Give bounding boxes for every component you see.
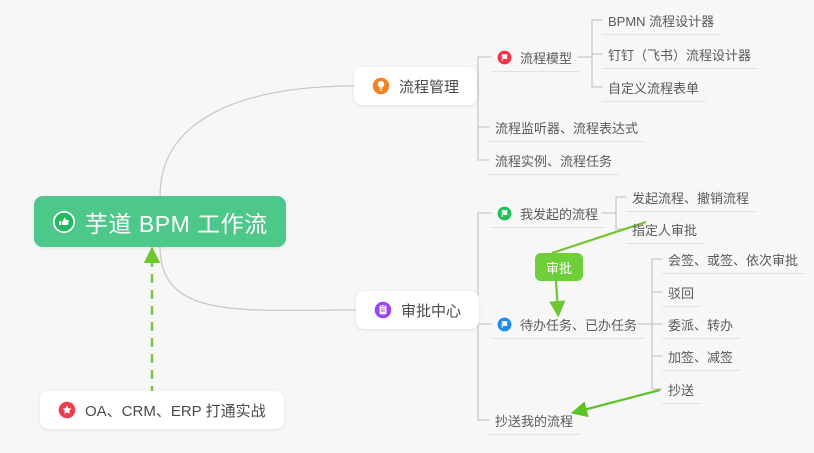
label-assignee-approval: 指定人审批 xyxy=(632,220,697,239)
node-bpmn-designer[interactable]: BPMN 流程设计器 xyxy=(602,6,721,35)
bottom-note-label: OA、CRM、ERP 打通实战 xyxy=(85,400,266,421)
approval-tag-node[interactable]: 审批 xyxy=(535,253,583,281)
label-countersign-orsign-sequential: 会签、或签、依次审批 xyxy=(668,250,798,269)
lightbulb-icon xyxy=(372,77,390,95)
label-my-initiated-process: 我发起的流程 xyxy=(520,204,598,223)
node-my-initiated-process[interactable]: 我发起的流程 xyxy=(491,199,605,228)
node-dingtalk-feishu-designer[interactable]: 钉钉（飞书）流程设计器 xyxy=(602,40,758,69)
label-dingtalk-feishu-designer: 钉钉（飞书）流程设计器 xyxy=(608,45,751,64)
label-custom-process-form: 自定义流程表单 xyxy=(608,78,699,97)
bottom-note-node[interactable]: OA、CRM、ERP 打通实战 xyxy=(40,391,284,429)
label-process-model: 流程模型 xyxy=(520,48,572,67)
label-start-cancel-process: 发起流程、撤销流程 xyxy=(632,188,749,207)
document-icon xyxy=(374,301,392,319)
root-label: 芋道 BPM 工作流 xyxy=(85,205,268,239)
flag-red-icon xyxy=(497,50,512,65)
node-custom-process-form[interactable]: 自定义流程表单 xyxy=(602,73,706,102)
label-bpmn-designer: BPMN 流程设计器 xyxy=(608,11,714,30)
connector-root-to-process-management xyxy=(160,86,354,196)
node-countersign-orsign-sequential[interactable]: 会签、或签、依次审批 xyxy=(662,245,805,274)
connector-root-to-approval-center xyxy=(160,246,356,310)
flag-green-icon xyxy=(497,206,512,221)
arrow-tag-to-todo-tasks xyxy=(556,281,558,312)
label-todo-done-tasks: 待办任务、已办任务 xyxy=(520,315,637,334)
node-process-model[interactable]: 流程模型 xyxy=(491,43,579,72)
node-add-remove-sign[interactable]: 加签、减签 xyxy=(662,342,740,371)
label-cc: 抄送 xyxy=(668,380,694,399)
node-reject[interactable]: 驳回 xyxy=(662,278,701,307)
thumbs-up-icon xyxy=(52,210,76,234)
node-cc[interactable]: 抄送 xyxy=(662,375,701,404)
label-process-instance-task: 流程实例、流程任务 xyxy=(495,151,612,170)
node-cc-to-me-process[interactable]: 抄送我的流程 xyxy=(489,406,580,435)
node-process-instance-task[interactable]: 流程实例、流程任务 xyxy=(489,146,619,175)
node-start-cancel-process[interactable]: 发起流程、撤销流程 xyxy=(626,183,756,212)
star-icon xyxy=(58,401,76,419)
mindmap-canvas: 芋道 BPM 工作流 OA、CRM、ERP 打通实战 流程管理 xyxy=(0,0,814,453)
branch-label-process-management: 流程管理 xyxy=(399,76,459,97)
label-cc-to-me-process: 抄送我的流程 xyxy=(495,411,573,430)
label-delegate-transfer: 委派、转办 xyxy=(668,315,733,334)
arrow-cc-to-cc-my-process xyxy=(576,390,660,412)
node-assignee-approval[interactable]: 指定人审批 xyxy=(626,215,704,244)
branch-label-approval-center: 审批中心 xyxy=(401,300,461,321)
label-reject: 驳回 xyxy=(668,283,694,302)
label-process-listener-expression: 流程监听器、流程表达式 xyxy=(495,118,638,137)
branch-node-process-management[interactable]: 流程管理 xyxy=(354,67,477,105)
approval-tag-label: 审批 xyxy=(546,258,572,277)
branch-node-approval-center[interactable]: 审批中心 xyxy=(356,291,479,329)
flag-blue-icon xyxy=(497,317,512,332)
node-todo-done-tasks[interactable]: 待办任务、已办任务 xyxy=(491,310,644,339)
label-add-remove-sign: 加签、减签 xyxy=(668,347,733,366)
node-process-listener-expression[interactable]: 流程监听器、流程表达式 xyxy=(489,113,645,142)
node-delegate-transfer[interactable]: 委派、转办 xyxy=(662,310,740,339)
root-node[interactable]: 芋道 BPM 工作流 xyxy=(34,196,286,247)
